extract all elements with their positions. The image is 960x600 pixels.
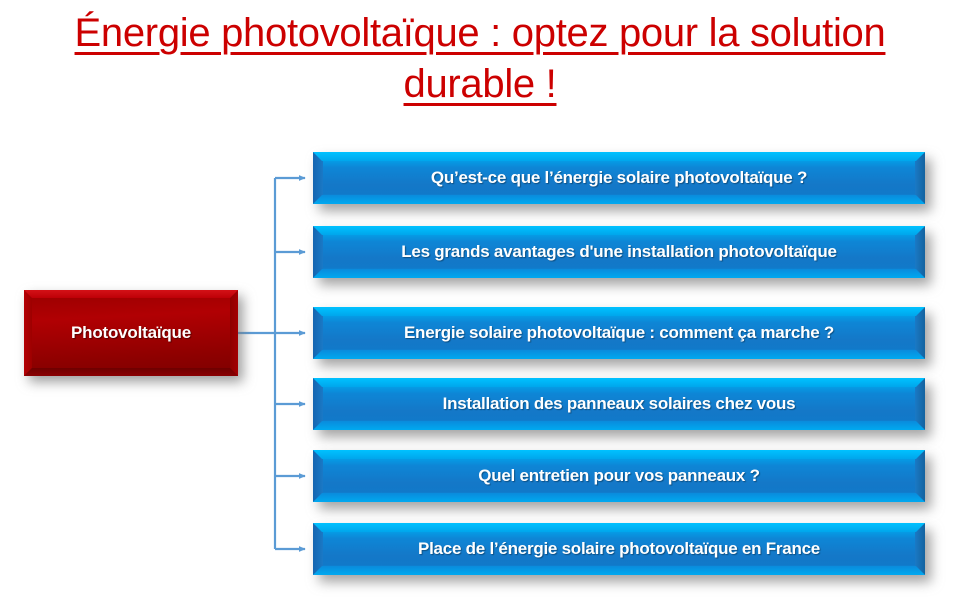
branch-node-3[interactable]: Energie solaire photovoltaïque : comment…	[313, 307, 925, 359]
branch-node-label-4: Installation des panneaux solaires chez …	[313, 378, 925, 430]
branch-node-2[interactable]: Les grands avantages d'une installation …	[313, 226, 925, 278]
root-node-photovoltaique[interactable]: Photovoltaïque	[24, 290, 238, 376]
photovoltaic-tree-diagram: Photovoltaïque Qu’est-ce que l’énergie s…	[0, 0, 960, 600]
branch-node-label-3: Energie solaire photovoltaïque : comment…	[313, 307, 925, 359]
branch-node-label-5: Quel entretien pour vos panneaux ?	[313, 450, 925, 502]
branch-node-4[interactable]: Installation des panneaux solaires chez …	[313, 378, 925, 430]
branch-node-label-6: Place de l’énergie solaire photovoltaïqu…	[313, 523, 925, 575]
root-node-label: Photovoltaïque	[24, 290, 238, 376]
branch-node-1[interactable]: Qu’est-ce que l’énergie solaire photovol…	[313, 152, 925, 204]
branch-node-label-2: Les grands avantages d'une installation …	[313, 226, 925, 278]
branch-node-5[interactable]: Quel entretien pour vos panneaux ?	[313, 450, 925, 502]
branch-node-label-1: Qu’est-ce que l’énergie solaire photovol…	[313, 152, 925, 204]
branch-node-6[interactable]: Place de l’énergie solaire photovoltaïqu…	[313, 523, 925, 575]
